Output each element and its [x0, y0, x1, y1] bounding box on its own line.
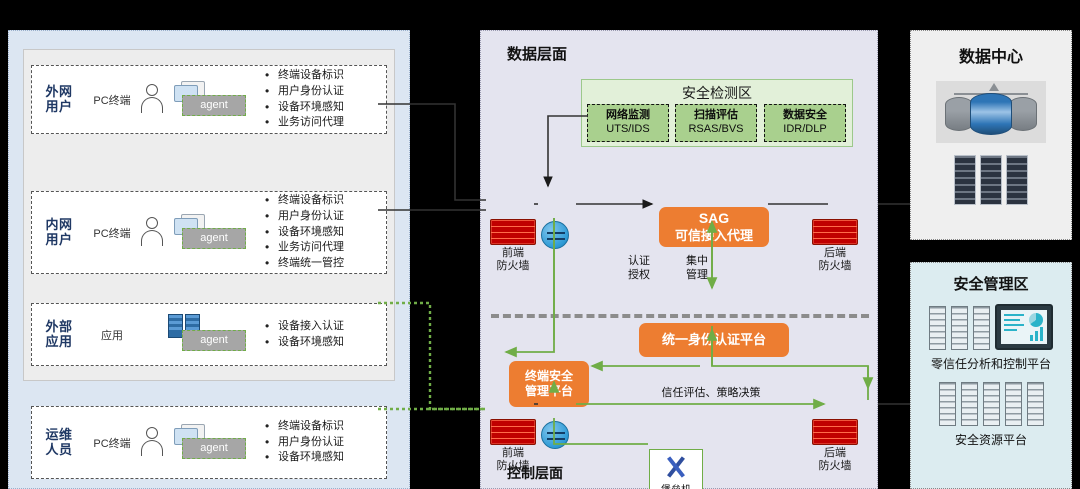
- list-item: 业务访问代理: [262, 240, 386, 256]
- server-rack-icon: [954, 155, 976, 205]
- tools-icon: [662, 454, 690, 480]
- data-center-panel: 数据中心: [910, 30, 1072, 240]
- firewall-icon: [812, 419, 858, 445]
- person-icon: [140, 84, 164, 116]
- user-card-role: 内网 用户: [32, 218, 86, 248]
- data-plane-title: 数据层面: [507, 43, 567, 64]
- list-item: 用户身份认证: [262, 209, 386, 225]
- front-firewall-top[interactable]: 前端防火墙: [489, 219, 537, 273]
- list-item: 终端设备标识: [262, 193, 386, 209]
- sag-trusted-access-proxy[interactable]: SAG 可信接入代理: [659, 207, 769, 247]
- user-card-icons: agent: [138, 210, 256, 256]
- database-icon: [936, 81, 1046, 143]
- security-resource-platform-icons: [911, 382, 1071, 426]
- list-item: 设备接入认证: [262, 319, 386, 335]
- firewall-label: 后端防火墙: [811, 247, 859, 273]
- security-management-zone-panel: 安全管理区 零信任分析和控制平台 安全资源平台: [910, 262, 1072, 489]
- agent-badge: agent: [182, 228, 246, 249]
- unified-identity-auth-platform[interactable]: 统一身份认证平台: [639, 323, 789, 357]
- firewall-label: 前端防火墙: [489, 247, 537, 273]
- security-module-data-security[interactable]: 数据安全 IDR/DLP: [764, 104, 846, 142]
- security-management-zone-title: 安全管理区: [911, 273, 1071, 294]
- security-module-network-monitoring[interactable]: 网络监测 UTS/IDS: [587, 104, 669, 142]
- diagram-canvas: 外网 用户 PC终端 agent 终端设备标识 用户身份认证 设备环境感知 业务…: [0, 0, 1080, 489]
- client-zone-group: 外网 用户 PC终端 agent 终端设备标识 用户身份认证 设备环境感知 业务…: [8, 30, 410, 489]
- person-icon: [140, 427, 164, 459]
- list-item: 终端设备标识: [262, 68, 386, 84]
- server-rack-group: [911, 155, 1071, 205]
- user-card-operations-staff[interactable]: 运维 人员 PC终端 agent 终端设备标识 用户身份认证 设备环境感知: [31, 406, 387, 479]
- plane-divider: [491, 314, 869, 318]
- list-item: 设备环境感知: [262, 100, 386, 116]
- user-card-terminal-kind: PC终端: [86, 92, 138, 108]
- security-resource-platform-caption: 安全资源平台: [911, 431, 1071, 448]
- firewall-icon: [490, 419, 536, 445]
- user-card-terminal-kind: PC终端: [86, 225, 138, 241]
- user-card-internal-network[interactable]: 内网 用户 PC终端 agent 终端设备标识 用户身份认证 设备环境感知 业务…: [31, 191, 387, 274]
- user-card-terminal-kind: PC终端: [86, 435, 138, 451]
- zero-trust-platform-icons: [911, 304, 1071, 350]
- server-unit-icon: [1027, 382, 1044, 426]
- list-item: 终端设备标识: [262, 419, 386, 435]
- label-authentication-authorization: 认证授权: [619, 255, 659, 283]
- zero-trust-platform-caption: 零信任分析和控制平台: [911, 355, 1071, 372]
- firewall-label: 前端防火墙: [489, 447, 537, 473]
- server-unit-icon: [1005, 382, 1022, 426]
- firewall-icon: [812, 219, 858, 245]
- server-rack-icon: [1006, 155, 1028, 205]
- server-unit-icon: [983, 382, 1000, 426]
- user-card-capabilities: 终端设备标识 用户身份认证 设备环境感知: [256, 419, 386, 466]
- user-card-role: 运维 人员: [32, 428, 86, 458]
- server-unit-icon: [951, 306, 968, 350]
- agent-badge: agent: [182, 95, 246, 116]
- endpoint-security-mgmt-platform[interactable]: 终端安全 管理平台: [509, 361, 589, 407]
- user-card-capabilities: 终端设备标识 用户身份认证 设备环境感知 业务访问代理: [256, 68, 386, 130]
- back-firewall-top[interactable]: 后端防火墙: [811, 219, 859, 273]
- list-item: 用户身份认证: [262, 84, 386, 100]
- user-card-role: 外网 用户: [32, 85, 86, 115]
- data-center-title: 数据中心: [911, 43, 1071, 67]
- user-card-terminal-kind: 应用: [86, 327, 138, 343]
- server-unit-icon: [929, 306, 946, 350]
- security-module-scan-assessment[interactable]: 扫描评估 RSAS/BVS: [675, 104, 757, 142]
- dashboard-monitor-icon: [995, 304, 1053, 350]
- server-unit-icon: [973, 306, 990, 350]
- server-rack-icon: [980, 155, 1002, 205]
- user-card-role: 外部 应用: [32, 320, 86, 350]
- router-icon-top[interactable]: [541, 221, 569, 249]
- server-unit-icon: [939, 382, 956, 426]
- label-trust-evaluation-policy: 信任评估、策略决策: [631, 387, 791, 401]
- person-icon: [140, 217, 164, 249]
- list-item: 设备环境感知: [262, 450, 386, 466]
- firewall-icon: [490, 219, 536, 245]
- router-icon-bottom[interactable]: [541, 421, 569, 449]
- security-detection-zone: 安全检测区 网络监测 UTS/IDS 扫描评估 RSAS/BVS 数据安全 ID…: [581, 79, 853, 147]
- security-detection-zone-title: 安全检测区: [582, 83, 852, 103]
- user-card-icons: agent: [138, 420, 256, 466]
- list-item: 终端统一管控: [262, 256, 386, 272]
- user-card-external-network[interactable]: 外网 用户 PC终端 agent 终端设备标识 用户身份认证 设备环境感知 业务…: [31, 65, 387, 134]
- list-item: 业务访问代理: [262, 115, 386, 131]
- user-card-capabilities: 终端设备标识 用户身份认证 设备环境感知 业务访问代理 终端统一管控: [256, 193, 386, 271]
- list-item: 设备环境感知: [262, 225, 386, 241]
- firewall-label: 后端防火墙: [811, 447, 859, 473]
- label-centralized-management: 集中管理: [677, 255, 717, 283]
- user-card-icons: agent: [138, 312, 256, 358]
- front-firewall-bottom[interactable]: 前端防火墙: [489, 419, 537, 473]
- agent-badge: agent: [182, 438, 246, 459]
- user-card-icons: agent: [138, 77, 256, 123]
- network-planes-panel: 数据层面 控制层面 安全检测区 网络监测 UTS/IDS 扫描评估 RSAS/B…: [480, 30, 878, 489]
- user-card-external-application[interactable]: 外部 应用 应用 agent 设备接入认证 设备环境感知: [31, 303, 387, 366]
- agent-badge: agent: [182, 330, 246, 351]
- list-item: 设备环境感知: [262, 335, 386, 351]
- user-card-capabilities: 设备接入认证 设备环境感知: [256, 319, 386, 350]
- bastion-host-label: 堡垒机: [650, 481, 702, 489]
- back-firewall-bottom[interactable]: 后端防火墙: [811, 419, 859, 473]
- server-unit-icon: [961, 382, 978, 426]
- list-item: 用户身份认证: [262, 435, 386, 451]
- bastion-host[interactable]: 堡垒机: [649, 449, 703, 489]
